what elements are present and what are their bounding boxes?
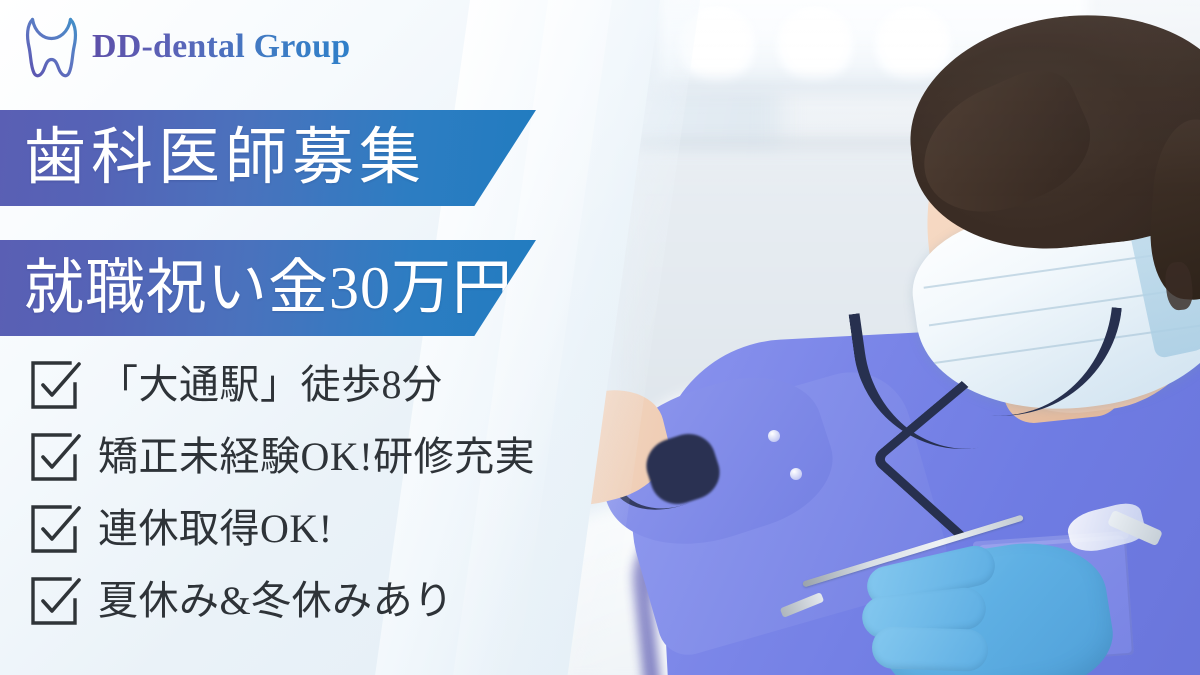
checkbox-checked-icon [30,576,82,626]
scrubs-snap [768,430,780,442]
headline-ribbon-secondary: 就職祝い金30万円 [0,240,536,336]
checklist-item: 「大通駅」徒歩8分 [30,360,535,410]
checkbox-checked-icon [30,360,82,410]
checkbox-checked-icon [30,504,82,554]
checklist-item-label: 「大通駅」徒歩8分 [98,365,443,405]
tooth-outline-icon [24,16,80,78]
headline-secondary-text: 就職祝い金30万円 [24,258,513,318]
brand-name: DD-dental Group [92,30,350,64]
checkbox-checked-icon [30,432,82,482]
benefits-checklist: 「大通駅」徒歩8分 矯正未経験OK!研修充実 連休取得OK! 夏休み&冬休みあり [30,360,535,626]
brand-logo[interactable]: DD-dental Group [24,16,350,78]
checklist-item-label: 夏休み&冬休みあり [98,581,454,621]
checklist-item: 夏休み&冬休みあり [30,576,535,626]
checklist-item-label: 連休取得OK! [98,509,333,549]
headline-ribbon-primary: 歯科医師募集 [0,110,536,206]
glove-finger [871,626,988,672]
headline-primary-text: 歯科医師募集 [24,127,426,189]
checklist-item: 連休取得OK! [30,504,535,554]
checklist-item: 矯正未経験OK!研修充実 [30,432,535,482]
scrubs-snap [790,468,802,480]
checklist-item-label: 矯正未経験OK!研修充実 [98,437,535,477]
recruitment-banner: DD-dental Group 歯科医師募集 就職祝い金30万円 「大通駅」徒歩… [0,0,1200,675]
